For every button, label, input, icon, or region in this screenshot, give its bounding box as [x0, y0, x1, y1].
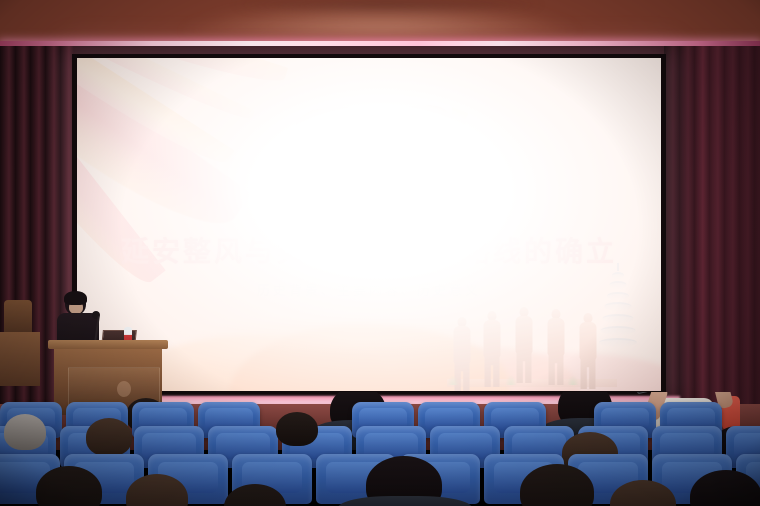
slide-subtitle: 历史背景、主要内容、历史意义 — [77, 280, 661, 299]
pagoda-tier — [612, 272, 624, 279]
star-divider: ★ ★ ★ — [77, 186, 661, 216]
presenter-hair — [64, 291, 87, 305]
audience-head — [4, 414, 46, 450]
ceiling — [0, 0, 760, 43]
statue-torso — [516, 316, 533, 354]
ceiling-light-glow — [182, 0, 577, 34]
slide-title: 延安整风与实事求是思想路线的确立 — [77, 230, 661, 270]
audience-area — [0, 392, 760, 506]
statue-legs — [581, 358, 596, 389]
statue-legs — [485, 356, 500, 387]
statue-figure — [545, 309, 567, 387]
decorative-plant — [505, 375, 517, 385]
statue-torso — [484, 320, 501, 358]
star-icon: ★ — [397, 194, 410, 209]
star-icon: ★ — [327, 194, 340, 209]
curtain-right — [664, 46, 760, 406]
statue-torso — [548, 318, 565, 356]
podium-top — [48, 340, 168, 349]
audience-head — [276, 412, 318, 446]
section-label: 第一部分 — [296, 105, 456, 187]
lecture-hall-scene: 第一部分 ★ ★ ★ 延安整风与实事求是思想路线的确立 历史背景、主要内容、历史… — [0, 0, 760, 506]
side-table — [0, 332, 40, 386]
statue-torso — [454, 326, 471, 364]
statue-legs — [517, 352, 532, 383]
statue-figure — [481, 311, 503, 387]
statue-figure — [577, 313, 599, 387]
statue-torso — [580, 322, 597, 360]
decorative-plant — [447, 375, 459, 385]
red-flag-banner: 第一部分 — [296, 99, 464, 194]
decorative-plant — [567, 375, 579, 385]
star-icon: ★ — [358, 189, 380, 214]
audience-head — [86, 418, 132, 456]
soldier-statues — [447, 295, 617, 387]
statue-legs — [549, 354, 564, 385]
